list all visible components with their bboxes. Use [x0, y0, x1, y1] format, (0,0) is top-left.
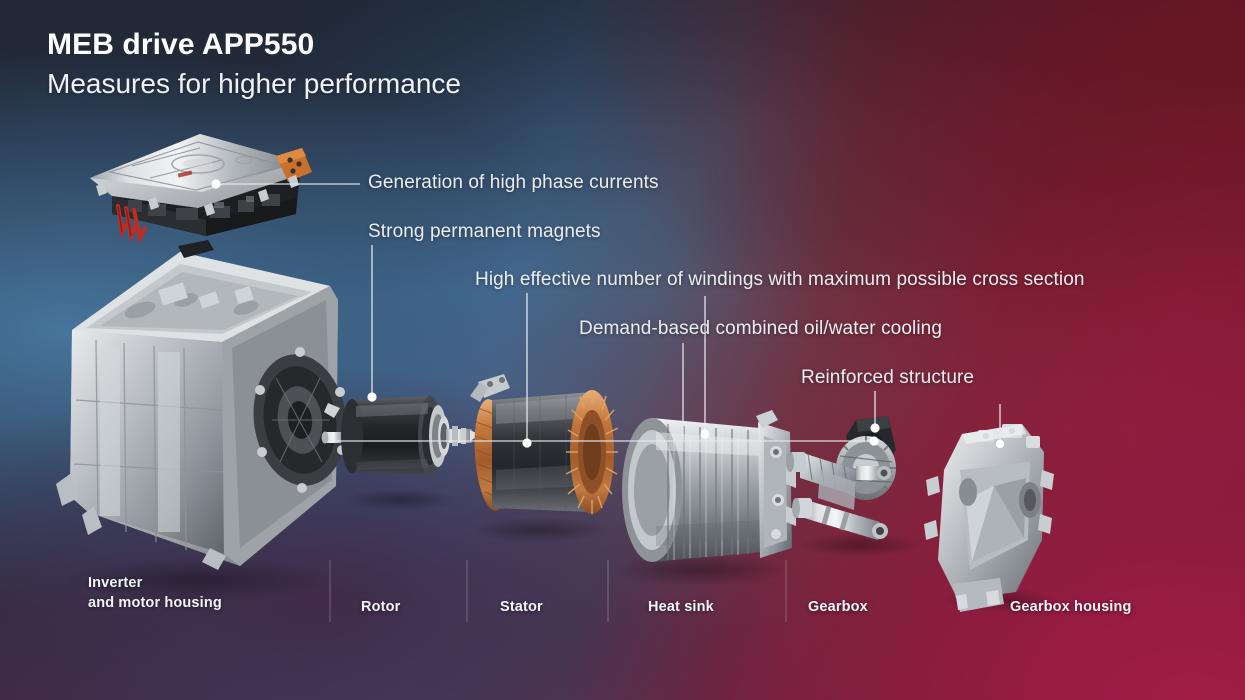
callout-generation-of-high-phase-currents: Generation of high phase currents	[368, 172, 659, 194]
header: MEB drive APP550 Measures for higher per…	[47, 30, 461, 98]
component-label-inverter-and-motor-housing: Inverter and motor housing	[88, 574, 222, 613]
component-label-heat-sink: Heat sink	[648, 598, 714, 618]
component-label-rotor: Rotor	[361, 598, 400, 618]
component-label-stator: Stator	[500, 598, 543, 618]
component-label-gearbox-housing: Gearbox housing	[1010, 598, 1132, 618]
component-label-line2: and motor housing	[88, 594, 222, 614]
callout-reinforced-structure: Reinforced structure	[801, 367, 974, 389]
callout-strong-permanent-magnets: Strong permanent magnets	[368, 221, 601, 243]
component-label-line1: Inverter	[88, 574, 222, 594]
page-subtitle: Measures for higher performance	[47, 70, 461, 98]
infographic-slide: MEB drive APP550 Measures for higher per…	[0, 0, 1245, 700]
callout-high-effective-number-of-windings: High effective number of windings with m…	[475, 269, 1085, 291]
callout-demand-based-combined-oil-water-cooling: Demand-based combined oil/water cooling	[579, 318, 942, 340]
page-title: MEB drive APP550	[47, 30, 461, 60]
component-label-gearbox: Gearbox	[808, 598, 868, 618]
